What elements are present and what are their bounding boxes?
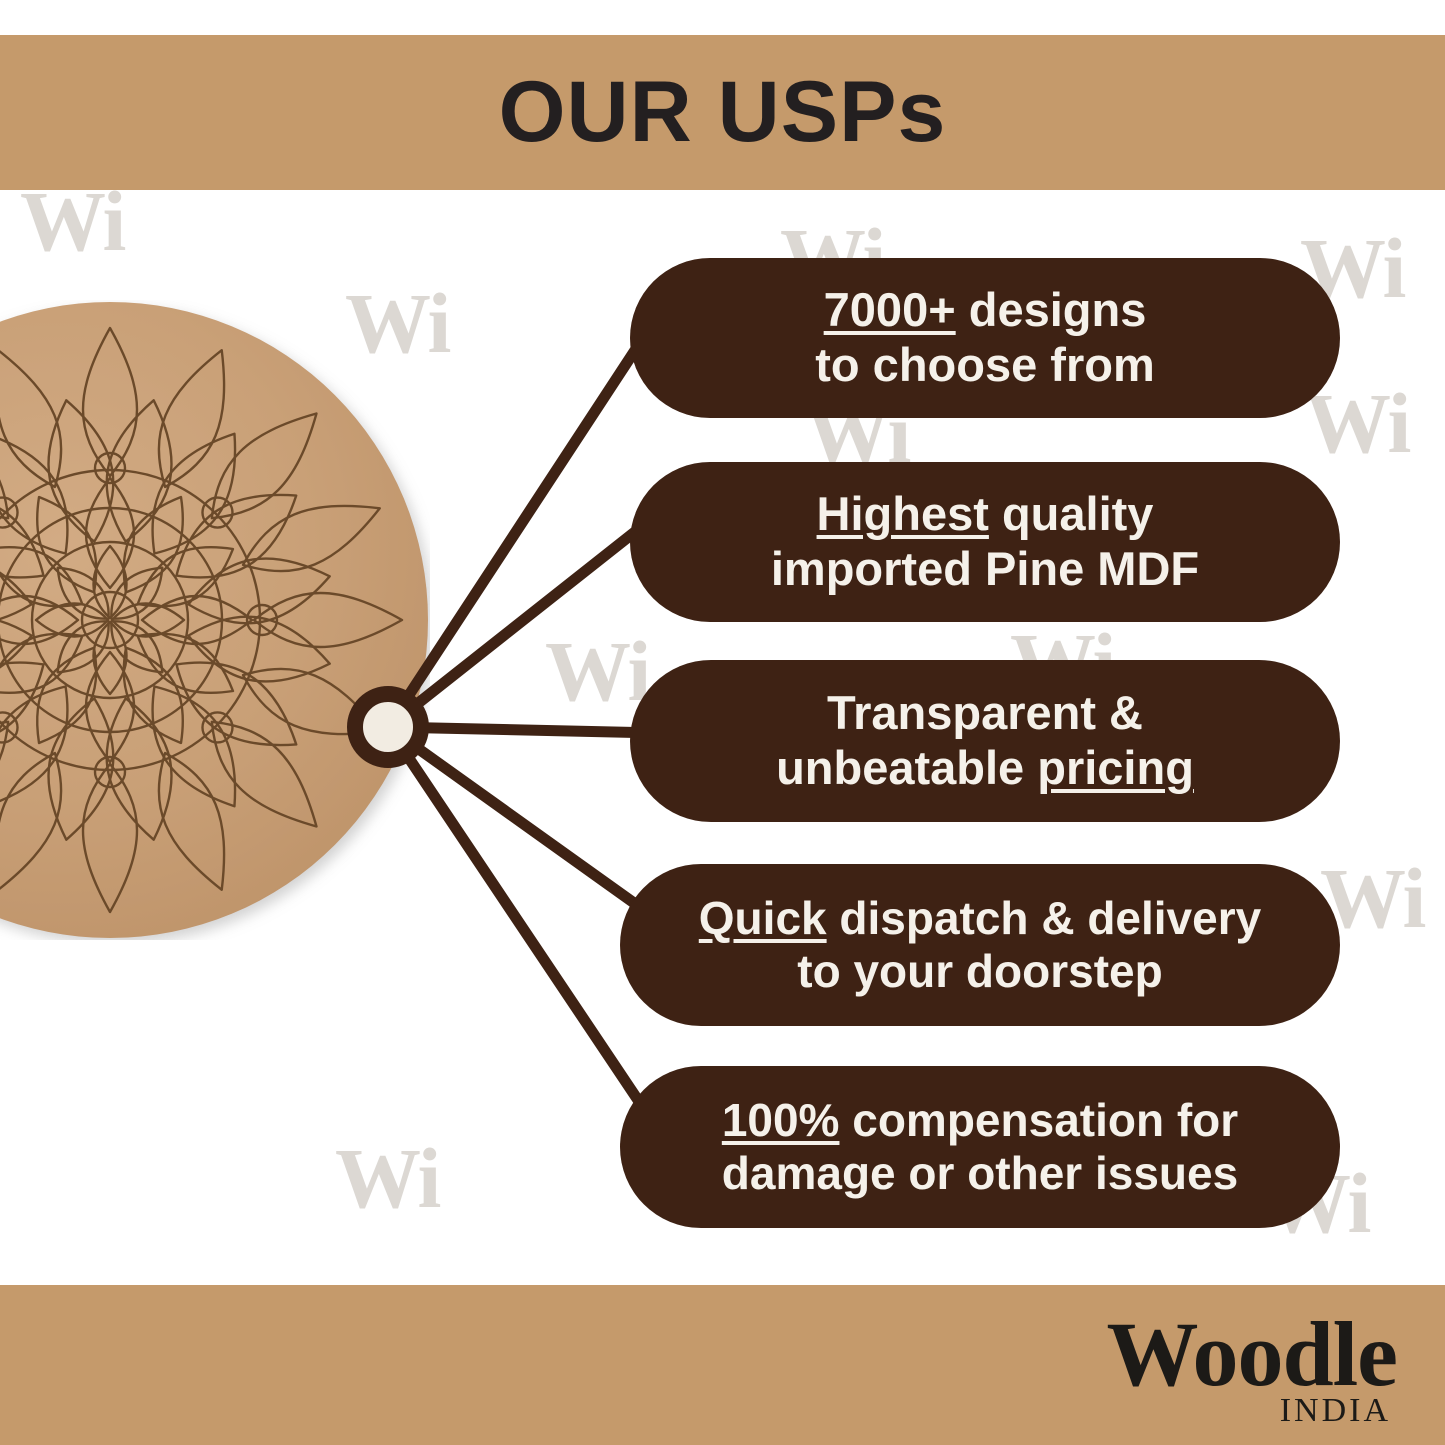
usp-line-1: 100% compensation for	[722, 1094, 1238, 1147]
brand-logo: Woodle INDIA	[1107, 1308, 1397, 1428]
page-title: OUR USPs	[0, 35, 1445, 190]
usp-line-2: damage or other issues	[722, 1147, 1238, 1200]
usp-pill-pricing[interactable]: Transparent & unbeatable pricing	[630, 660, 1340, 822]
usp-line-1: Transparent &	[827, 686, 1143, 741]
usp-highlight: 100%	[722, 1094, 840, 1146]
connector-line-1	[388, 300, 668, 727]
usp-pill-compensation[interactable]: 100% compensation for damage or other is…	[620, 1066, 1340, 1228]
usp-highlight: Highest	[817, 487, 989, 540]
connector-hub	[355, 694, 421, 760]
usp-line-2: to your doorstep	[797, 945, 1162, 998]
connector-line-4	[388, 727, 655, 918]
usp-line-1: 7000+ designs	[824, 283, 1147, 338]
usp-pill-dispatch[interactable]: Quick dispatch & delivery to your doorst…	[620, 864, 1340, 1026]
usp-pill-designs[interactable]: 7000+ designs to choose from	[630, 258, 1340, 418]
usp-line-1: Quick dispatch & delivery	[699, 892, 1261, 945]
usp-infographic: Wi Wi Wi Wi Wi Wi Wi Wi Wi Wi Wi	[0, 0, 1445, 1445]
usp-line-1: Highest quality	[817, 487, 1154, 542]
usp-pill-quality[interactable]: Highest quality imported Pine MDF	[630, 462, 1340, 622]
usp-highlight: Quick	[699, 892, 827, 944]
usp-line-2: unbeatable pricing	[776, 741, 1194, 796]
connector-line-5	[388, 727, 650, 1118]
usp-highlight: 7000+	[824, 283, 956, 336]
connector-line-2	[388, 512, 660, 727]
brand-name: Woodle	[1107, 1308, 1397, 1400]
usp-line-2: imported Pine MDF	[771, 542, 1199, 597]
usp-line-2: to choose from	[815, 338, 1154, 393]
usp-highlight: pricing	[1037, 741, 1194, 794]
